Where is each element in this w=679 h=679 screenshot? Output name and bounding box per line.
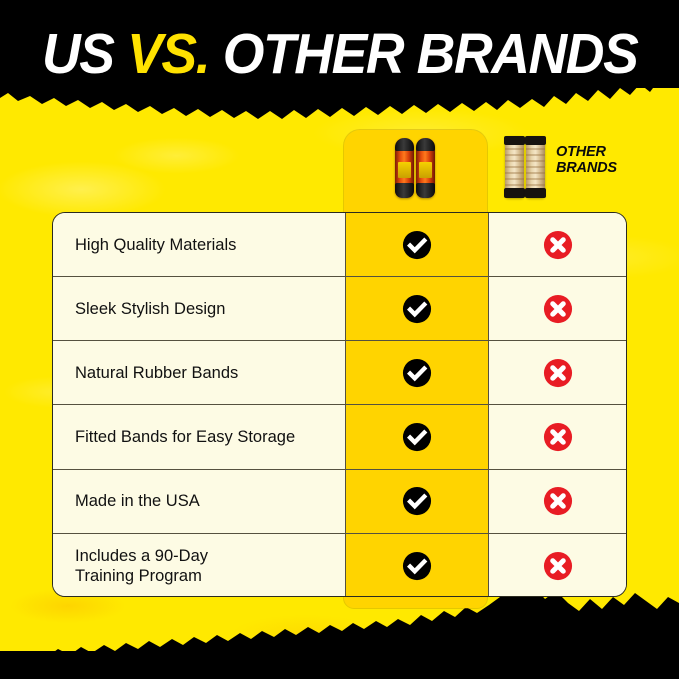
table-row: High Quality Materials [53, 213, 626, 277]
title-part-us: US [42, 22, 127, 86]
other-brands-line2: BRANDS [556, 160, 617, 176]
column-headers: OTHER BRANDS [0, 118, 679, 214]
other-cell [488, 213, 626, 276]
feature-cell: High Quality Materials [53, 213, 345, 276]
feature-cell: Sleek Stylish Design [53, 277, 345, 340]
other-cell [488, 277, 626, 340]
grip-label-icon [398, 162, 411, 178]
us-cell [345, 277, 488, 340]
grip-right-icon [416, 138, 435, 198]
cross-circle-icon [543, 294, 573, 324]
feature-cell: Includes a 90-Day Training Program [53, 534, 345, 597]
table-row: Natural Rubber Bands [53, 341, 626, 405]
cross-circle-icon [543, 358, 573, 388]
cross-circle-icon [543, 486, 573, 516]
our-product-grips-icon [392, 138, 438, 198]
other-brands-line1: OTHER [556, 144, 617, 160]
title-part-vs: VS. [127, 22, 209, 86]
us-cell [345, 341, 488, 404]
other-cell [488, 405, 626, 468]
table-row: Fitted Bands for Easy Storage [53, 405, 626, 469]
page-title: US VS. OTHER BRANDS [0, 22, 679, 86]
check-circle-icon [402, 358, 432, 388]
title-part-other-brands: OTHER BRANDS [209, 22, 637, 86]
other-brands-grips-icon [503, 136, 547, 198]
table-row: Includes a 90-Day Training Program [53, 534, 626, 597]
feature-cell: Natural Rubber Bands [53, 341, 345, 404]
check-circle-icon [402, 422, 432, 452]
other-cell [488, 470, 626, 533]
other-cell [488, 341, 626, 404]
check-circle-icon [402, 486, 432, 516]
cross-circle-icon [543, 230, 573, 260]
grip-left-icon [395, 138, 414, 198]
feature-cell: Made in the USA [53, 470, 345, 533]
cross-circle-icon [543, 422, 573, 452]
other-grip-right-icon [526, 136, 545, 198]
cross-circle-icon [543, 551, 573, 581]
other-grip-left-icon [505, 136, 524, 198]
check-circle-icon [402, 230, 432, 260]
comparison-table: High Quality Materials Sleek Stylish Des… [52, 212, 627, 597]
us-cell [345, 534, 488, 597]
feature-cell: Fitted Bands for Easy Storage [53, 405, 345, 468]
grip-label-icon [419, 162, 432, 178]
us-cell [345, 213, 488, 276]
table-row: Made in the USA [53, 470, 626, 534]
check-circle-icon [402, 294, 432, 324]
infographic-canvas: US VS. OTHER BRANDS OTHER BRANDS High Qu… [0, 0, 679, 679]
table-row: Sleek Stylish Design [53, 277, 626, 341]
check-circle-icon [402, 551, 432, 581]
other-cell [488, 534, 626, 597]
other-brands-header-label: OTHER BRANDS [556, 144, 617, 176]
us-cell [345, 470, 488, 533]
us-cell [345, 405, 488, 468]
